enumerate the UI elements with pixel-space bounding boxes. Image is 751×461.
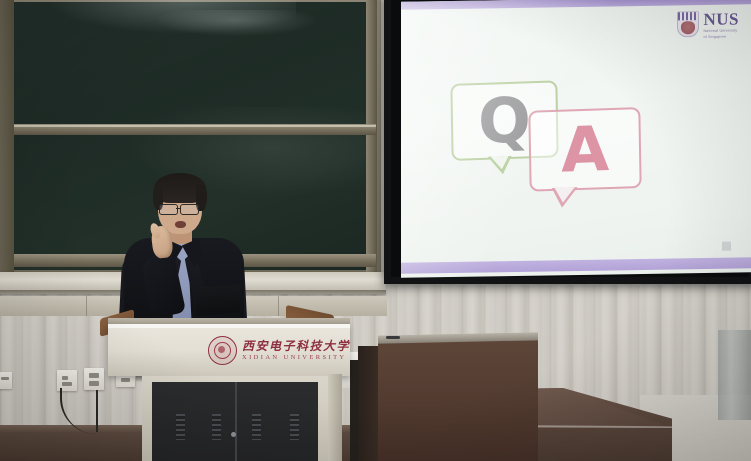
projection-screen-frame: NUS National University of Singapore Q A (384, 0, 751, 284)
nus-subtitle-line2: of Singapore (703, 35, 739, 39)
lectern-podium: 西安电子科技大学 XIDIAN UNIVERSITY (100, 310, 358, 461)
answer-letter: A (530, 109, 639, 190)
question-bubble-tail-fill (491, 156, 509, 170)
nus-subtitle-line1: National University (703, 29, 739, 33)
far-right-doorway (718, 330, 751, 420)
slide-number-placeholder (722, 242, 731, 251)
pen-on-desk[interactable] (386, 336, 400, 339)
nus-logo: NUS National University of Singapore (677, 10, 739, 39)
podium-vent-slot (212, 414, 221, 440)
wall-cabinet-segment (0, 296, 87, 316)
lecture-hall-photo: NUS National University of Singapore Q A (0, 0, 751, 461)
desk-left-panel (358, 346, 380, 461)
podium-brand-english: XIDIAN UNIVERSITY (242, 355, 350, 362)
answer-bubble-tail-fill (555, 187, 575, 203)
blackboard-rail-highlight (2, 125, 376, 127)
presenter-glasses-right-lens (180, 204, 199, 215)
nus-crest-icon (677, 11, 699, 37)
nus-wordmark-text: NUS (703, 10, 739, 28)
presenter-mouth (175, 221, 186, 228)
slide-bottom-band (401, 257, 751, 274)
blackboard-right-edge (366, 0, 377, 276)
blackboard-glare-secondary (156, 10, 316, 36)
podium-vent-slot (176, 414, 185, 440)
presenter-glasses-bridge (176, 208, 181, 209)
podium-university-branding: 西安电子科技大学 XIDIAN UNIVERSITY (208, 336, 350, 365)
projected-slide: NUS National University of Singapore Q A (401, 0, 751, 278)
podium-door-gap (235, 382, 237, 461)
podium-vent-slot (252, 414, 261, 440)
blackboard-left-post (0, 0, 14, 290)
projection-screen-bezel: NUS National University of Singapore Q A (391, 0, 749, 277)
presenter-glasses-left-lens (159, 204, 178, 215)
podium-front-highlight (108, 324, 350, 328)
wooden-desk (378, 338, 538, 461)
podium-right-side-panel (328, 374, 342, 461)
podium-vent-slot (290, 414, 299, 440)
wall-plate-far-left[interactable] (0, 372, 12, 389)
podium-door-lock[interactable] (231, 432, 236, 437)
podium-brand-chinese: 西安电子科技大学 (242, 340, 350, 352)
xidian-crest-icon (208, 336, 237, 365)
slide-top-band (401, 0, 751, 10)
answer-speech-bubble: A (528, 107, 641, 192)
